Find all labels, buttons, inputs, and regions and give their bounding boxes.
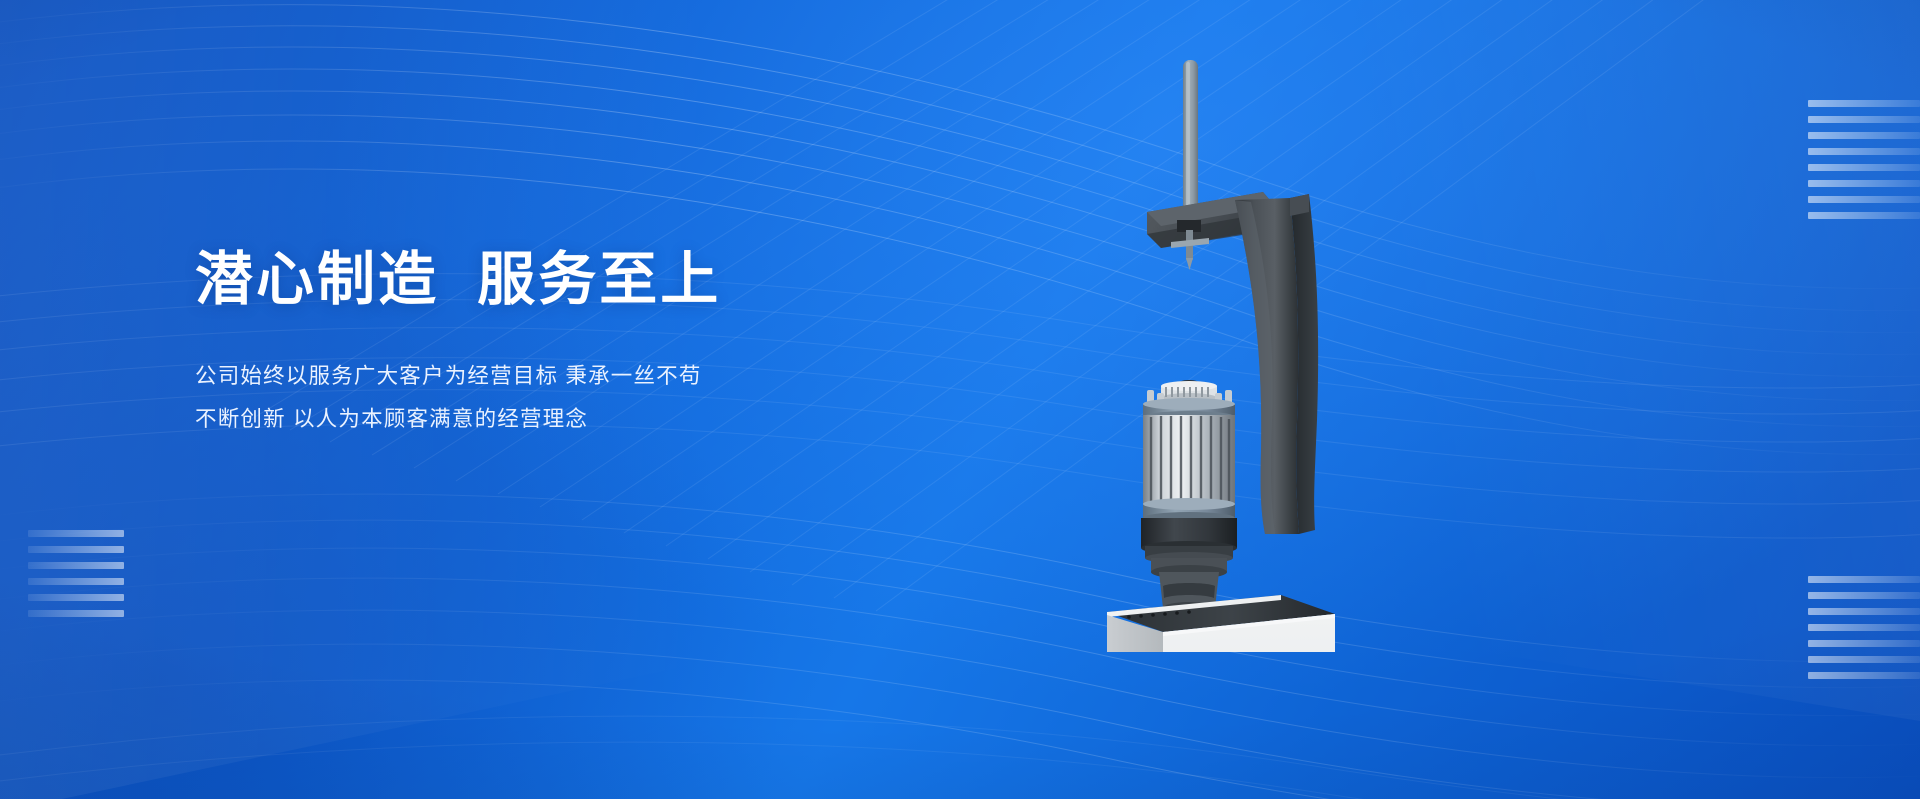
decorative-bar bbox=[1808, 196, 1920, 203]
decorative-bar bbox=[1808, 180, 1920, 187]
decorative-bar bbox=[1808, 132, 1920, 139]
decorative-bars-right-bottom bbox=[1808, 576, 1920, 679]
hero-subtitle: 公司始终以服务广大客户为经营目标 秉承一丝不苟 不断创新 以人为本顾客满意的经营… bbox=[195, 355, 955, 442]
decorative-bars-right-top bbox=[1808, 100, 1920, 219]
decorative-bar bbox=[1808, 576, 1920, 583]
product-illustration bbox=[1085, 52, 1385, 652]
decorative-bar bbox=[28, 594, 124, 601]
page-title: 潜心制造 服务至上 bbox=[195, 248, 955, 313]
decorative-bar bbox=[1808, 100, 1920, 107]
vertical-guide-rod bbox=[1183, 60, 1198, 212]
decorative-bar bbox=[28, 530, 124, 537]
finned-cylinder-assembly bbox=[1141, 380, 1237, 614]
decorative-bar bbox=[1808, 592, 1920, 599]
decorative-bar bbox=[1808, 116, 1920, 123]
subtitle-line-2: 不断创新 以人为本顾客满意的经营理念 bbox=[195, 398, 955, 441]
decorative-bar bbox=[1808, 656, 1920, 663]
decorative-bar bbox=[1808, 608, 1920, 615]
decorative-bar bbox=[1808, 212, 1920, 219]
decorative-bar bbox=[28, 562, 124, 569]
decorative-bar bbox=[28, 578, 124, 585]
decorative-bar bbox=[1808, 672, 1920, 679]
decorative-bar bbox=[1808, 148, 1920, 155]
decorative-bar bbox=[1808, 164, 1920, 171]
decorative-bar bbox=[28, 610, 124, 617]
decorative-bar bbox=[28, 546, 124, 553]
decorative-bar bbox=[1808, 640, 1920, 647]
subtitle-line-1: 公司始终以服务广大客户为经营目标 秉承一丝不苟 bbox=[195, 355, 955, 398]
c-frame-column bbox=[1235, 194, 1318, 534]
decorative-bar bbox=[1808, 624, 1920, 631]
decorative-bars-left-bottom bbox=[28, 530, 124, 617]
hero-banner: 潜心制造 服务至上 公司始终以服务广大客户为经营目标 秉承一丝不苟 不断创新 以… bbox=[0, 0, 1920, 799]
hero-text-block: 潜心制造 服务至上 公司始终以服务广大客户为经营目标 秉承一丝不苟 不断创新 以… bbox=[195, 248, 955, 442]
